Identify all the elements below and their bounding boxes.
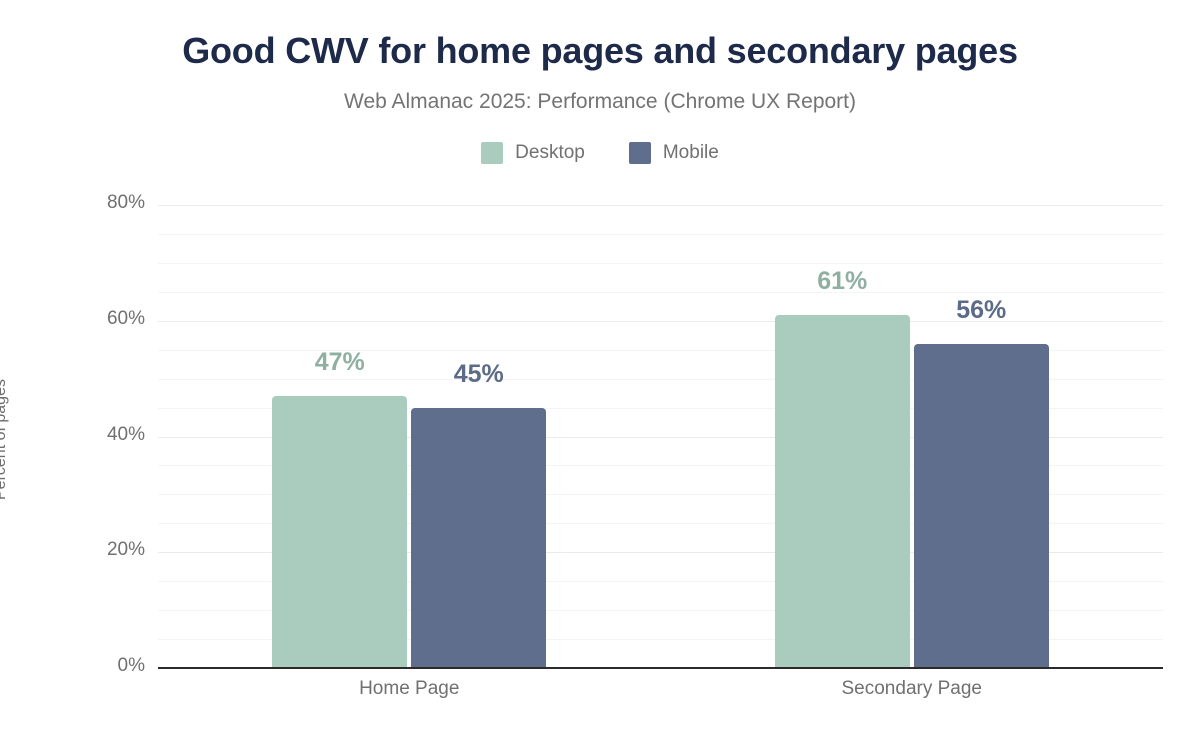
legend-swatch-desktop <box>481 142 503 164</box>
x-axis-line <box>158 667 1163 669</box>
bar-chart: Good CWV for home pages and secondary pa… <box>0 0 1200 742</box>
bar-value-label: 47% <box>272 348 407 377</box>
legend-item-desktop[interactable]: Desktop <box>481 142 585 164</box>
bar-mobile-home-page[interactable] <box>411 408 546 668</box>
y-tick-label: 20% <box>40 539 145 561</box>
gridline <box>158 205 1163 206</box>
chart-subtitle: Web Almanac 2025: Performance (Chrome UX… <box>0 90 1200 114</box>
x-tick-label: Home Page <box>158 678 661 700</box>
gridline <box>158 234 1163 235</box>
y-tick-label: 80% <box>40 192 145 214</box>
legend-swatch-mobile <box>629 142 651 164</box>
bar-desktop-secondary-page[interactable] <box>775 315 910 668</box>
y-tick-label: 0% <box>40 655 145 677</box>
bar-value-label: 56% <box>914 296 1049 325</box>
bar-value-label: 61% <box>775 267 910 296</box>
y-axis-title: Percent of pages <box>0 379 10 500</box>
legend-label-desktop: Desktop <box>515 142 585 164</box>
chart-title: Good CWV for home pages and secondary pa… <box>0 30 1200 72</box>
plot-area <box>158 205 1163 668</box>
y-tick-label: 60% <box>40 308 145 330</box>
x-tick-label: Secondary Page <box>661 678 1164 700</box>
bar-mobile-secondary-page[interactable] <box>914 344 1049 668</box>
gridline <box>158 263 1163 264</box>
bar-desktop-home-page[interactable] <box>272 396 407 668</box>
bar-value-label: 45% <box>411 360 546 389</box>
chart-legend: Desktop Mobile <box>0 142 1200 164</box>
legend-label-mobile: Mobile <box>663 142 719 164</box>
gridline <box>158 292 1163 293</box>
y-tick-label: 40% <box>40 424 145 446</box>
legend-item-mobile[interactable]: Mobile <box>629 142 719 164</box>
